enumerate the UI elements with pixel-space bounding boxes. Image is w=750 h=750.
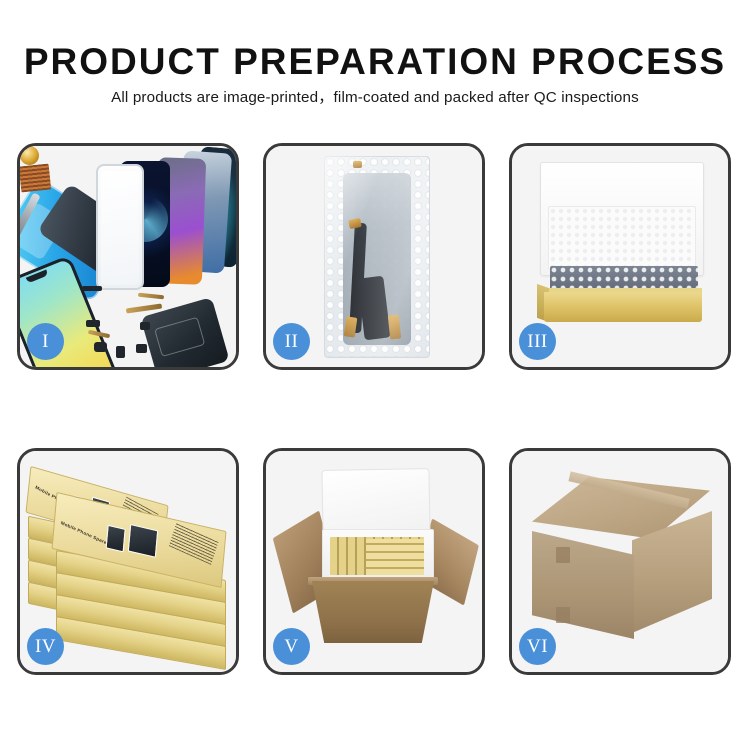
process-step-panel-4: Mobile Phone Spare Parts Mobile Phone Sp… [17,448,239,675]
chip-part [82,286,102,291]
process-step-panel-5: V [263,448,485,675]
tape-strip [388,314,401,339]
tape-strip [353,161,362,168]
bubble-wrap-bag [324,156,430,358]
step-badge-3: III [519,323,556,360]
chip-part [94,342,107,352]
step-badge-4: IV [27,628,64,665]
white-foam-sheet [548,206,696,270]
chip-part [116,346,125,358]
flex-cable-part [138,293,164,300]
retail-box-stack: Mobile Phone Spare Parts Mobile Phone Sp… [28,473,228,653]
step-badge-1: I [27,323,64,360]
chip-part [86,320,100,327]
carton-body [312,581,434,643]
spec-text-lines [169,522,219,565]
chip-part [140,322,150,330]
header: PRODUCT PREPARATION PROCESS All products… [0,0,750,130]
process-step-panel-3: III [509,143,731,370]
product-window [106,525,126,553]
process-step-panel-6: VI [509,448,731,675]
foam-lid-open [321,468,430,536]
process-steps-grid: I II III [17,143,733,733]
carton-tape-mark [556,547,570,563]
step-badge-6: VI [519,628,556,665]
page-subtitle: All products are image-printed，film-coat… [0,88,750,108]
chip-part [136,344,147,353]
step-badge-5: V [273,628,310,665]
process-step-panel-2: II [263,143,485,370]
yellow-boxes-row [366,539,424,575]
speaker-coil-part [20,146,39,165]
step-badge-2: II [273,323,310,360]
carton-front-face [532,531,634,639]
tempered-glass-protector [96,164,144,290]
carton-tape-mark [556,607,570,623]
page-title: PRODUCT PREPARATION PROCESS [0,40,750,84]
yellow-inner-box [544,292,702,322]
copper-shield-part [19,164,52,193]
process-step-panel-1: I [17,143,239,370]
product-window [128,524,158,558]
